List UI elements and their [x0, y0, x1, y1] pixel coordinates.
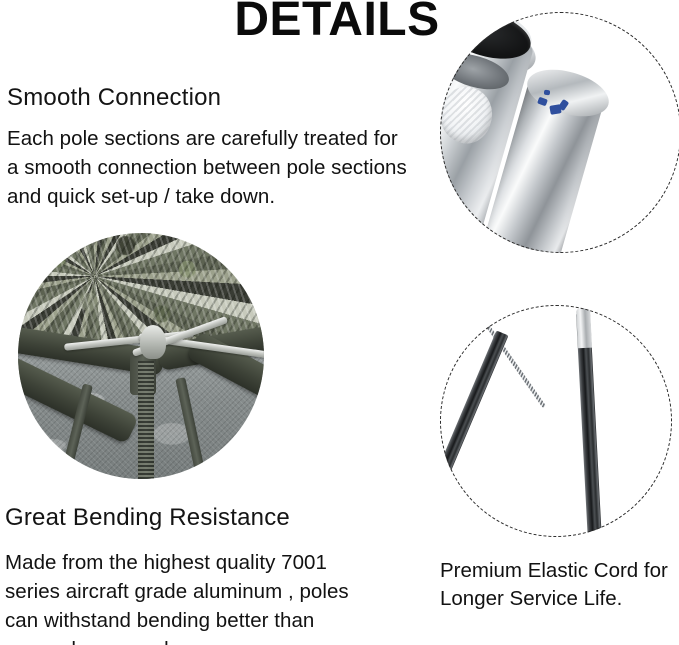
body-line: and quick set-up / take down. — [7, 182, 437, 211]
caption-line: Premium Elastic Cord for — [440, 557, 675, 585]
cord-blue-fleck — [544, 90, 550, 96]
page-title: DETAILS — [222, 0, 452, 46]
tube-scene — [440, 12, 679, 253]
bending-resistance-heading: Great Bending Resistance — [5, 504, 290, 532]
smooth-connection-body: Each pole sections are carefully treated… — [7, 124, 437, 211]
caption-line: Longer Service Life. — [440, 585, 675, 613]
cord-poles-photo — [440, 305, 672, 537]
tent-hub-photo — [18, 233, 264, 479]
tube-connection-photo — [440, 12, 679, 253]
pole-ferrule-tip — [576, 308, 592, 349]
smooth-connection-heading: Smooth Connection — [7, 84, 221, 112]
tent-zipper — [138, 361, 154, 479]
tent-pole-hub — [140, 325, 166, 359]
bending-resistance-body: Made from the highest quality 7001 serie… — [5, 548, 405, 645]
body-line: a smooth connection between pole section… — [7, 153, 437, 182]
body-line: Each pole sections are carefully treated… — [7, 124, 437, 153]
details-infographic: DETAILS Smooth Connection Each pole sect… — [0, 0, 679, 645]
pole-section-left — [440, 330, 508, 528]
body-line: many cheaper poles. — [5, 635, 405, 645]
elastic-cord-caption: Premium Elastic Cord for Longer Service … — [440, 557, 675, 613]
body-line: Made from the highest quality 7001 — [5, 548, 405, 577]
forest-ground — [18, 233, 264, 347]
body-line: can withstand bending better than — [5, 606, 405, 635]
body-line: series aircraft grade aluminum , poles — [5, 577, 405, 606]
